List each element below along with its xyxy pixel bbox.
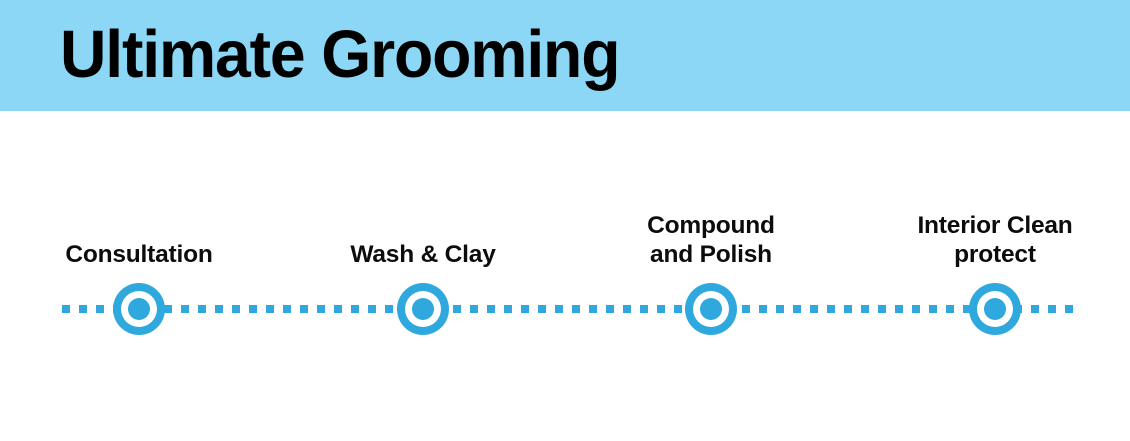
timeline-step-label-line: Compound bbox=[581, 211, 841, 240]
timeline-step-label: Consultation bbox=[9, 240, 269, 269]
circle-target-icon[interactable] bbox=[685, 283, 737, 335]
timeline-step-label-line: Interior Clean bbox=[865, 211, 1125, 240]
circle-target-core bbox=[412, 298, 434, 320]
process-timeline: Consultation Wash & Clay Compound and Po… bbox=[0, 111, 1130, 441]
timeline-step-label: Compound and Polish bbox=[581, 211, 841, 269]
timeline-step-label-line: protect bbox=[865, 240, 1125, 269]
timeline-step-consultation[interactable]: Consultation bbox=[9, 111, 269, 441]
circle-target-core bbox=[984, 298, 1006, 320]
timeline-step-label: Wash & Clay bbox=[293, 240, 553, 269]
circle-target-icon[interactable] bbox=[113, 283, 165, 335]
circle-target-icon[interactable] bbox=[397, 283, 449, 335]
circle-target-core bbox=[128, 298, 150, 320]
timeline-step-wash-and-clay[interactable]: Wash & Clay bbox=[293, 111, 553, 441]
circle-target-core bbox=[700, 298, 722, 320]
circle-target-icon[interactable] bbox=[969, 283, 1021, 335]
timeline-step-label-line: Wash & Clay bbox=[293, 240, 553, 269]
timeline-step-label-line: and Polish bbox=[581, 240, 841, 269]
timeline-step-label: Interior Clean protect bbox=[865, 211, 1125, 269]
timeline-step-compound-and-polish[interactable]: Compound and Polish bbox=[581, 111, 841, 441]
header-banner: Ultimate Grooming bbox=[0, 0, 1130, 111]
timeline-step-interior-clean-protect[interactable]: Interior Clean protect bbox=[865, 111, 1125, 441]
timeline-step-label-line: Consultation bbox=[9, 240, 269, 269]
page-title: Ultimate Grooming bbox=[60, 13, 619, 97]
